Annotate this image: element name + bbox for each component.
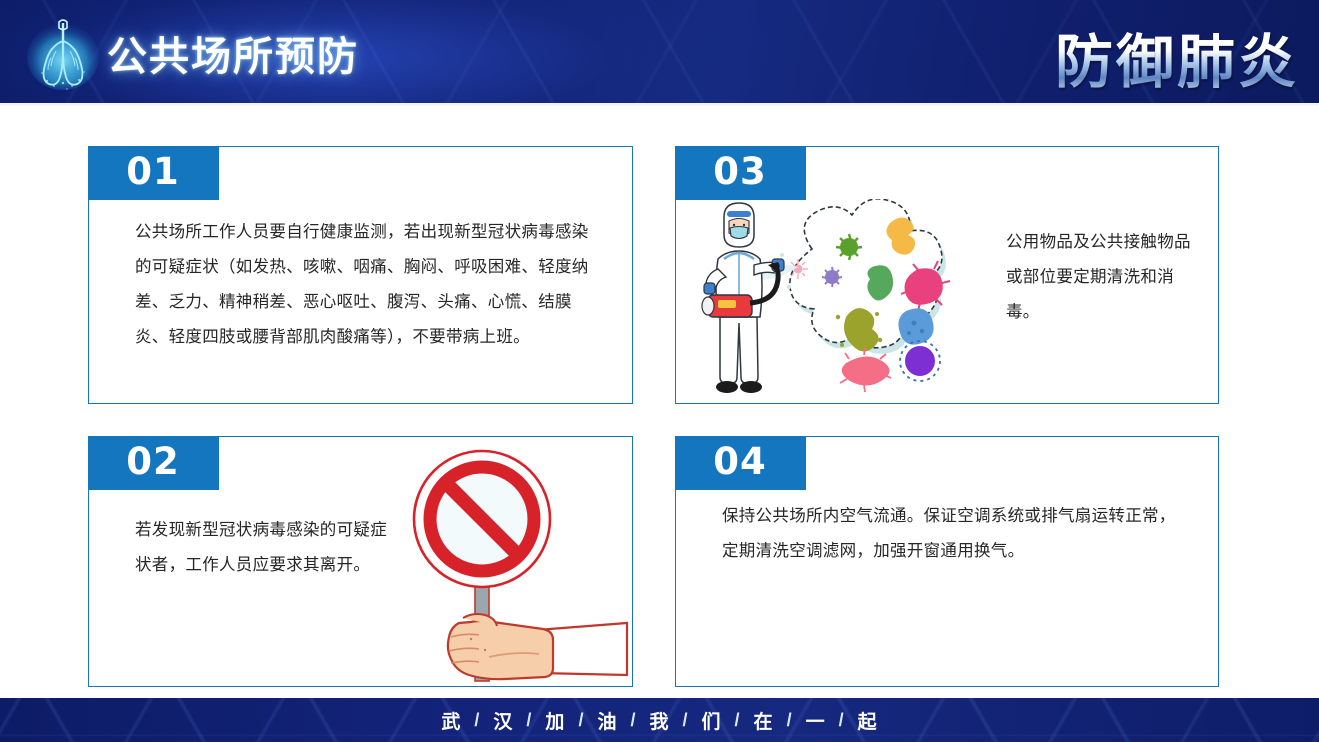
disinfection-worker-icon: [694, 199, 1014, 404]
info-card-01[interactable]: 01 公共场所工作人员要自行健康监测，若出现新型冠状病毒感染的可疑症状（如发热、…: [88, 146, 633, 404]
card-body-text-01: 公共场所工作人员要自行健康监测，若出现新型冠状病毒感染的可疑症状（如发热、咳嗽、…: [135, 215, 605, 355]
footer-char: 武: [428, 707, 474, 734]
footer-slogan: 武/汉/加/油/我/们/在/一/起: [0, 698, 1319, 742]
footer-char: 一: [793, 707, 839, 734]
page-title: 公共场所预防: [107, 24, 359, 82]
card-number-01: 01: [126, 153, 180, 190]
brand-logo-text: 防御肺炎: [1055, 15, 1299, 99]
card-number-badge-01: 01: [88, 146, 219, 200]
card-number-03: 03: [713, 153, 767, 190]
slide-header: 公共场所预防 防御肺炎: [0, 0, 1319, 105]
footer-char: 我: [636, 707, 682, 734]
header-underline: [0, 103, 1319, 106]
slide-root: 公共场所预防 防御肺炎 01 公共场所工作人员要自行健康监测，若出现新型冠状病毒…: [0, 0, 1319, 742]
card-body-text-04: 保持公共场所内空气流通。保证空调系统或排气扇运转正常，定期清洗空调滤网，加强开窗…: [722, 499, 1192, 569]
card-number-badge-04: 04: [675, 436, 806, 490]
card-number-badge-02: 02: [88, 436, 219, 490]
prohibition-sign-icon: [389, 447, 633, 687]
card-body-text-02: 若发现新型冠状病毒感染的可疑症状者，工作人员应要求其离开。: [135, 513, 395, 583]
card-number-badge-03: 03: [675, 146, 806, 200]
footer-char: 加: [532, 707, 578, 734]
card-number-02: 02: [126, 443, 180, 480]
footer-char: 在: [741, 707, 787, 734]
info-card-04[interactable]: 04 保持公共场所内空气流通。保证空调系统或排气扇运转正常，定期清洗空调滤网，加…: [675, 436, 1219, 687]
footer-char: 汉: [480, 707, 526, 734]
footer-char: 油: [584, 707, 630, 734]
card-number-04: 04: [713, 443, 767, 480]
info-card-02[interactable]: 02 若发现新型冠状病毒感染的可疑症状者，工作人员应要求其离开。: [88, 436, 633, 687]
slide-footer: 武/汉/加/油/我/们/在/一/起: [0, 698, 1319, 742]
footer-char: 起: [845, 707, 891, 734]
footer-char: 们: [689, 707, 735, 734]
card-body-text-03: 公用物品及公共接触物品或部位要定期清洗和消毒。: [1006, 225, 1206, 330]
info-card-03[interactable]: 03: [675, 146, 1219, 404]
lungs-icon: [20, 13, 106, 93]
